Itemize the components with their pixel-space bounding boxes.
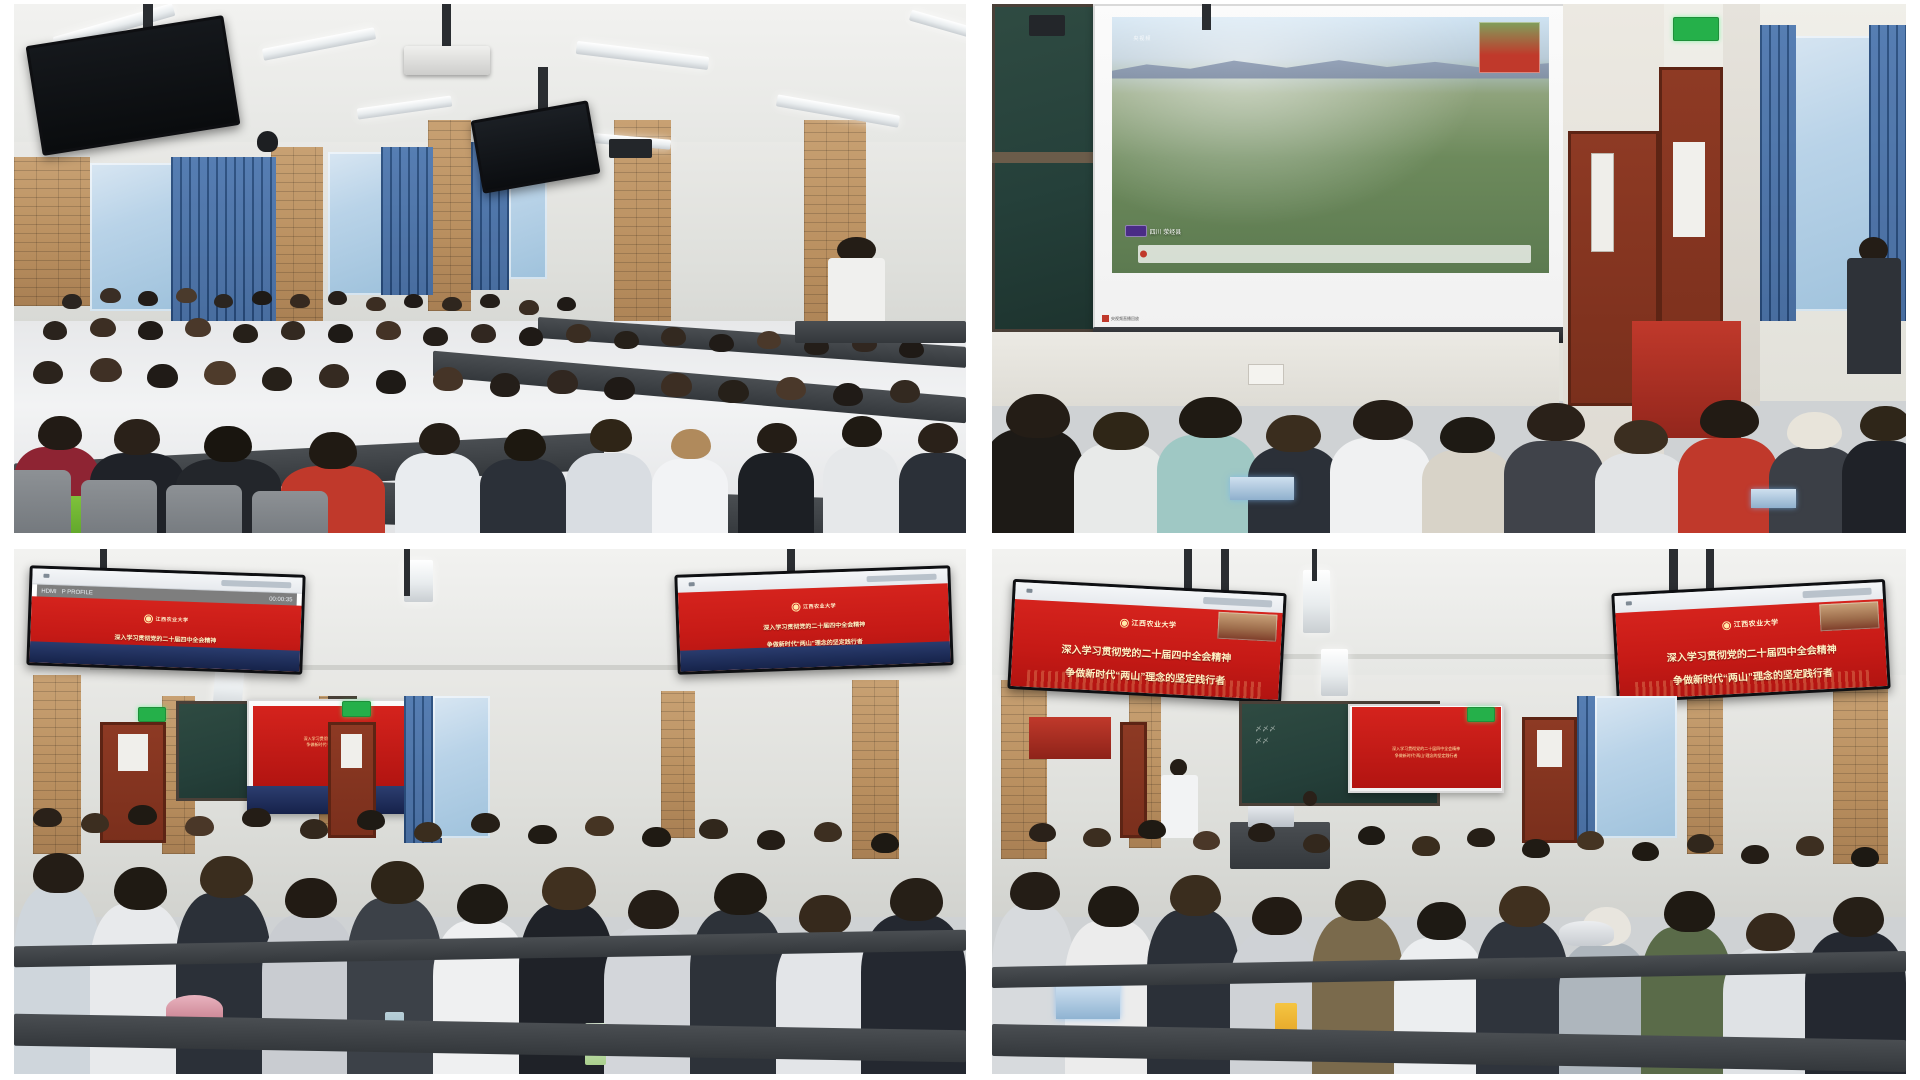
- screen-banner-line2: 争做新时代“两山”理念的坚定践行者: [1352, 753, 1501, 759]
- light-mount: [404, 549, 410, 596]
- photo-collage: 阶梯教室学生听讲全景（左前方视角） 央视频 四川 荥经县: [0, 0, 1920, 1080]
- university-seal-icon: [144, 614, 153, 623]
- chair: [166, 485, 242, 533]
- university-seal-icon: [791, 602, 800, 611]
- laptop-screen: [1056, 981, 1120, 1019]
- door-window: [1537, 730, 1561, 768]
- photo-top-right: 央视频 四川 荥经县 央视频直播回放: [992, 4, 1906, 533]
- location-tag-text: 四川 荥经县: [1150, 227, 1182, 236]
- hanging-display-right: 江西农业大学 深入学习贯彻党的二十届四中全会精神 争做新时代“两山”理念的坚定践…: [674, 565, 953, 674]
- chalkboard: [992, 4, 1102, 332]
- banner-logo: 江西农业大学: [678, 597, 948, 615]
- banner-university: 江西农业大学: [803, 602, 836, 610]
- chair: [14, 470, 71, 533]
- banner-university: 江西农业大学: [1132, 618, 1177, 630]
- curtain: [1760, 25, 1797, 321]
- picture-in-picture: [1479, 22, 1540, 73]
- watermark-text: 央视频: [1133, 35, 1151, 42]
- tv-source-chip: [1802, 587, 1872, 598]
- tv-profile-label: P PROFILE: [62, 589, 93, 596]
- projector-mount: [1202, 4, 1211, 30]
- tv-timecode: 00:00:35: [269, 596, 293, 603]
- audience-crowd: [992, 385, 1906, 533]
- photo-panel-top-left: 阶梯教室学生听讲全景（左前方视角）: [0, 0, 982, 543]
- hanging-display-right: 江西农业大学 深入学习贯彻党的二十届四中全会精神 争做新时代“两山”理念的坚定践…: [1611, 579, 1891, 703]
- banner-line1: 深入学习贯彻党的二十届四中全会精神: [679, 617, 949, 635]
- banner-logo: 江西农业大学: [31, 610, 301, 628]
- wall-outlet: [1248, 364, 1285, 385]
- exit-sign-icon: [1467, 707, 1494, 723]
- tv-source-chip: [866, 573, 936, 582]
- tv-input-icon: [43, 574, 49, 578]
- picture-in-picture: [1217, 611, 1277, 641]
- screen-video-content: 央视频 四川 荥经县: [1112, 17, 1549, 273]
- source-footer-text: 央视频直播回放: [1111, 316, 1139, 322]
- projector: [404, 46, 490, 75]
- university-seal-icon: [1721, 620, 1730, 629]
- banner-university: 江西农业大学: [1733, 617, 1778, 629]
- tablet-screen: [1751, 489, 1797, 508]
- audience-crowd: [14, 226, 966, 533]
- door-window: [118, 734, 147, 770]
- door-frame-window: [1673, 142, 1705, 237]
- hanging-display-left: HDMI P PROFILE 00:00:35 OFF 江西农业大学 深入学习贯…: [27, 565, 306, 674]
- photo-panel-top-right: 央视频 四川 荥经县 央视频直播回放: [982, 0, 1920, 543]
- live-dot-icon: [1140, 250, 1147, 257]
- chair: [81, 480, 157, 533]
- laptop-screen: [1230, 477, 1294, 501]
- photo-top-left: 阶梯教室学生听讲全景（左前方视角）: [14, 4, 966, 533]
- university-seal-icon: [1120, 618, 1129, 627]
- tv-input-icon: [688, 582, 694, 586]
- white-cap: [1559, 921, 1614, 946]
- banner-university: 江西农业大学: [156, 615, 189, 623]
- door-window: [341, 734, 362, 769]
- chalk-writing: 〆〆〆〆〆: [1255, 724, 1276, 746]
- photo-panel-bottom-left: HDMI P PROFILE 00:00:35 OFF 江西农业大学 深入学习贯…: [0, 543, 982, 1080]
- tv-source-chip: [1203, 597, 1273, 608]
- picture-in-picture: [1819, 601, 1879, 631]
- tv-input-icon: [1026, 588, 1032, 592]
- red-notice-board: [1029, 717, 1111, 759]
- standing-person-body: [1847, 258, 1902, 374]
- chalk-tray: [992, 152, 1102, 163]
- location-tag: 四川 荥经县: [1125, 225, 1182, 237]
- ceiling-light: [1321, 649, 1348, 696]
- photo-panel-bottom-right: 江西农业大学 深入学习贯彻党的二十届四中全会精神 争做新时代“两山”理念的坚定践…: [982, 543, 1920, 1080]
- wall-speaker: [609, 139, 652, 158]
- photo-bottom-left: HDMI P PROFILE 00:00:35 OFF 江西农业大学 深入学习贯…: [14, 549, 966, 1074]
- tv-input-label: HDMI: [41, 588, 57, 595]
- projection-screen: 央视频 四川 荥经县 央视频直播回放: [1093, 4, 1568, 332]
- exit-sign-icon: [1673, 17, 1719, 41]
- tv-source-chip: [222, 579, 292, 588]
- photo-bottom-right: 江西农业大学 深入学习贯彻党的二十届四中全会精神 争做新时代“两山”理念的坚定践…: [992, 549, 1906, 1074]
- exit-sign-icon: [138, 707, 167, 723]
- light-mount: [1312, 549, 1317, 581]
- wall-speaker: [1029, 15, 1066, 36]
- source-icon: [1102, 315, 1109, 322]
- projector-mount: [442, 4, 451, 46]
- source-footer: 央视频直播回放: [1102, 315, 1139, 322]
- podium-desk: [795, 321, 966, 342]
- exit-sign-icon: [342, 701, 371, 717]
- hanging-display-left: 江西农业大学 深入学习贯彻党的二十届四中全会精神 争做新时代“两山”理念的坚定践…: [1008, 579, 1288, 703]
- channel-badge-icon: [1125, 225, 1147, 237]
- ticker-bar: [1138, 245, 1532, 263]
- tv-input-icon: [1625, 601, 1631, 605]
- dome-camera-icon: [257, 131, 278, 152]
- door-window: [1591, 153, 1615, 252]
- speaker-head: [1170, 759, 1186, 776]
- chair: [252, 491, 328, 533]
